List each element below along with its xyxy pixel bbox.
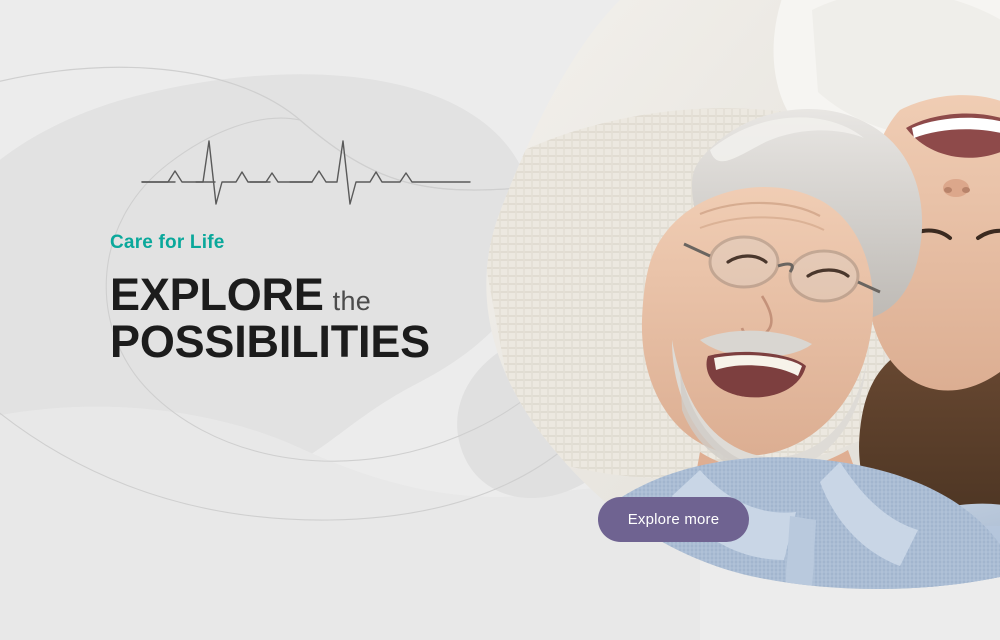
hero-copy: Care for Life EXPLOREthe POSSIBILITIES (110, 232, 530, 366)
hero-banner: Care for Life EXPLOREthe POSSIBILITIES E… (0, 0, 1000, 640)
shirt-button (789, 589, 803, 603)
headline-line-2: POSSIBILITIES (110, 318, 530, 366)
headline-line-1: EXPLOREthe (110, 271, 530, 319)
headline-explore: EXPLORE (110, 269, 324, 320)
eyebrow-text: Care for Life (110, 232, 530, 255)
headline-the: the (333, 286, 371, 316)
headline-possibilities: POSSIBILITIES (110, 316, 430, 367)
page-title: EXPLOREthe POSSIBILITIES (110, 271, 530, 366)
explore-more-button[interactable]: Explore more (598, 497, 749, 542)
photo-content (460, 0, 1000, 640)
